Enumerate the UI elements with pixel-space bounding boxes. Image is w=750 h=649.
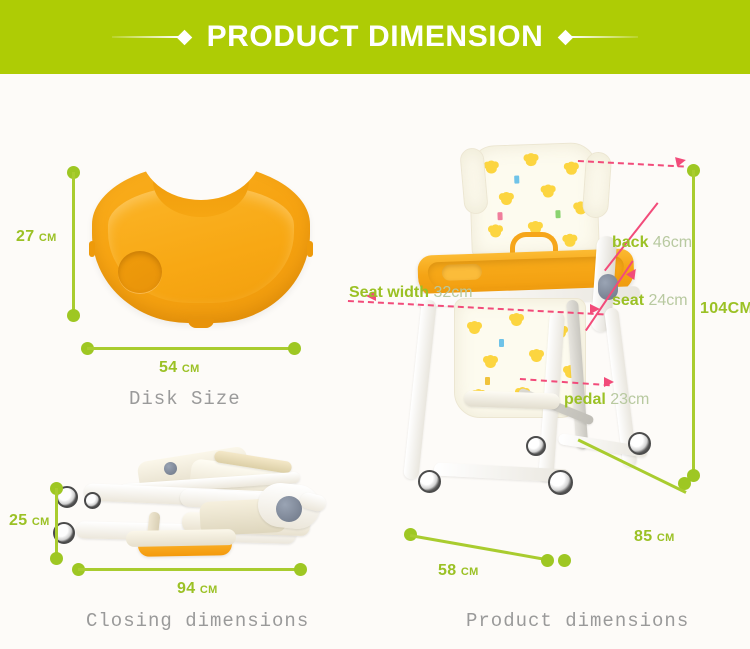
depth-dot-bottom bbox=[558, 554, 571, 567]
disk-height-line bbox=[72, 172, 75, 315]
high-chair-image bbox=[398, 140, 680, 570]
total-height-label: 104CM bbox=[700, 300, 750, 318]
closing-height-dot-bottom bbox=[50, 552, 63, 565]
tray-clip-left bbox=[89, 241, 95, 257]
chair-footrest bbox=[464, 390, 560, 409]
closing-height-label: 25 CM bbox=[9, 512, 50, 530]
tray-cup-holder bbox=[118, 251, 162, 293]
page-title: PRODUCT DIMENSION bbox=[207, 20, 544, 54]
decoration-diamond-right bbox=[558, 29, 574, 45]
left-decoration-icon bbox=[112, 32, 190, 43]
closing-height-line bbox=[55, 488, 58, 558]
decoration-line-left bbox=[112, 36, 180, 38]
chair-wheel-front-right bbox=[548, 470, 573, 495]
folded-wheel-2 bbox=[84, 492, 101, 509]
seat-depth-annotation: seat 24cm bbox=[612, 292, 688, 310]
disk-height-label: 27 CM bbox=[16, 228, 57, 246]
chair-wheel-rear-right bbox=[628, 432, 651, 455]
disk-width-line bbox=[87, 347, 294, 350]
front-width-label: 58 CM bbox=[438, 562, 479, 580]
feeding-tray-image bbox=[92, 163, 310, 323]
closing-width-line bbox=[78, 568, 300, 571]
tray-clip-right bbox=[307, 241, 313, 257]
disk-width-dot-right bbox=[288, 342, 301, 355]
chair-tray-cup-slot bbox=[442, 264, 483, 281]
product-caption: Product dimensions bbox=[466, 610, 689, 632]
disk-caption: Disk Size bbox=[129, 388, 241, 410]
product-dimension-infographic: PRODUCT DIMENSION 27 CM 54 CM Disk Size bbox=[0, 0, 750, 649]
folded-tray-base bbox=[126, 529, 236, 547]
decoration-line-right bbox=[570, 36, 638, 38]
total-height-line bbox=[692, 170, 695, 475]
depth-label: 85 CM bbox=[634, 528, 675, 546]
header-banner: PRODUCT DIMENSION bbox=[0, 0, 750, 74]
closing-width-dot-right bbox=[294, 563, 307, 576]
pedal-arrow bbox=[604, 377, 614, 387]
chair-wheel-front-left bbox=[418, 470, 441, 493]
front-width-dot-right bbox=[541, 554, 554, 567]
closing-width-label: 94 CM bbox=[177, 580, 218, 598]
folded-upper-knob bbox=[164, 462, 177, 475]
pedal-annotation: pedal 23cm bbox=[564, 391, 649, 409]
decoration-diamond-left bbox=[176, 29, 192, 45]
disk-height-dot-bottom bbox=[67, 309, 80, 322]
folded-chair-image bbox=[62, 452, 324, 570]
chair-wheel-rear-left bbox=[526, 436, 546, 456]
seat-width-annotation: Seat width 32cm bbox=[349, 284, 473, 302]
disk-width-label: 54 CM bbox=[159, 359, 200, 377]
tray-bottom-tab bbox=[188, 319, 214, 328]
folded-hinge-knob bbox=[276, 496, 302, 522]
back-arrow bbox=[675, 155, 687, 167]
chair-front-leg-left bbox=[403, 299, 437, 480]
closing-caption: Closing dimensions bbox=[86, 610, 309, 632]
back-annotation: back 46cm bbox=[612, 234, 692, 252]
right-decoration-icon bbox=[560, 32, 638, 43]
